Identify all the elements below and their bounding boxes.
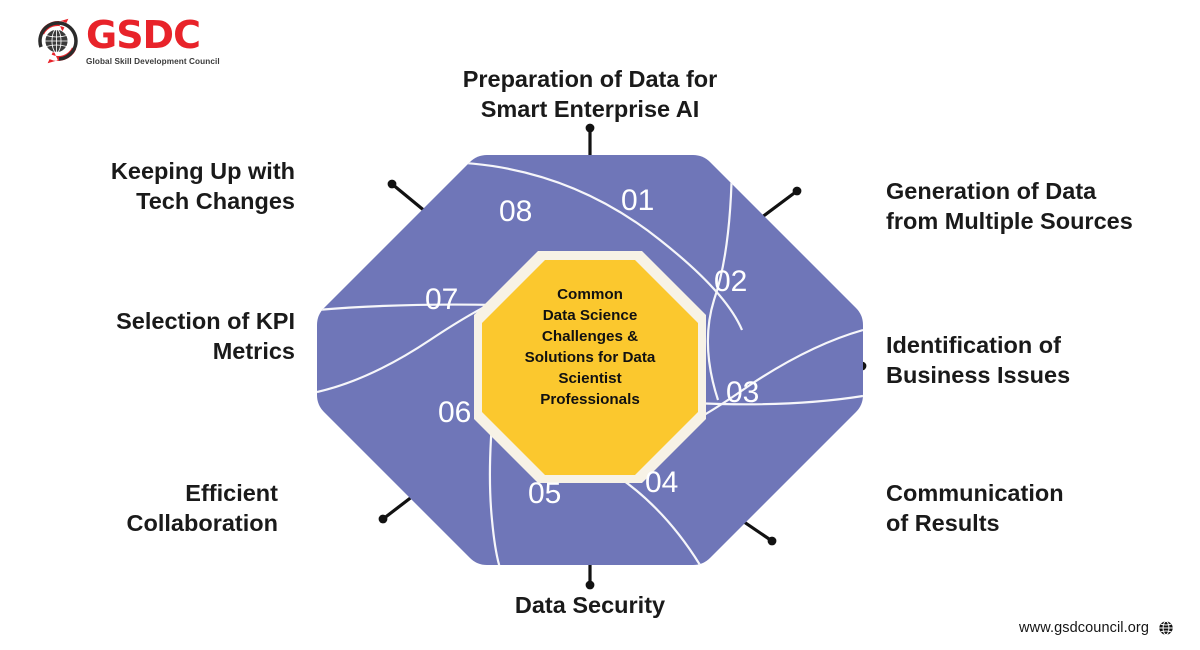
center-title-line: Common [482,285,698,306]
label-keeping-up-with-tech-changes: Keeping Up with Tech Changes [20,156,295,216]
center-title-line: Professionals [482,390,698,411]
segment-number-04: 04 [645,466,678,500]
infographic-canvas: GSDC Global Skill Development Council [0,0,1200,650]
center-title: Common Data Science Challenges & Solutio… [482,285,698,411]
segment-number-08: 08 [499,195,532,229]
segment-number-02: 02 [714,265,747,299]
label-selection-of-kpi-metrics: Selection of KPI Metrics [20,306,295,366]
globe-icon [1158,620,1174,636]
label-identification-of-business-issues: Identification of Business Issues [886,330,1186,390]
center-title-line: Scientist [482,369,698,390]
segment-number-01: 01 [621,184,654,218]
segment-number-06: 06 [438,396,471,430]
center-title-line: Data Science [482,306,698,327]
label-generation-of-data: Generation of Data from Multiple Sources [886,176,1186,236]
label-communication-of-results: Communication of Results [886,478,1186,538]
segment-number-05: 05 [528,477,561,511]
label-data-security: Data Security [440,590,740,620]
footer: www.gsdcouncil.org [1019,620,1174,636]
segment-number-07: 07 [425,283,458,317]
center-title-line: Challenges & [482,327,698,348]
label-preparation-of-data: Preparation of Data for Smart Enterprise… [430,64,750,124]
segment-number-03: 03 [726,376,759,410]
center-title-line: Solutions for Data [482,348,698,369]
label-efficient-collaboration: Efficient Collaboration [20,478,278,538]
website-url[interactable]: www.gsdcouncil.org [1019,620,1149,636]
